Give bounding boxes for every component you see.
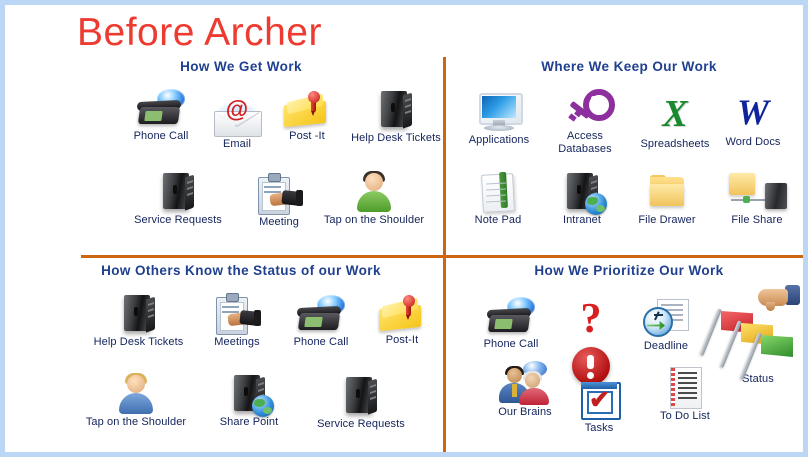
key-icon [563, 87, 607, 129]
server-icon [338, 375, 384, 417]
file-share-icon [727, 171, 787, 213]
item-phone-call[interactable]: Phone Call [463, 297, 559, 351]
item-applications[interactable]: Applications [451, 91, 547, 147]
item-spreadsheets[interactable]: X Spreadsheets [625, 95, 725, 151]
item-post-it[interactable]: Post-It [363, 293, 441, 347]
person-icon [115, 373, 157, 415]
excel-icon: X [652, 95, 698, 137]
item-label: Access Databases [539, 130, 631, 155]
item-help-desk-tickets[interactable]: Help Desk Tickets [341, 89, 451, 145]
postit-icon [376, 293, 428, 333]
word-icon: W [730, 93, 776, 135]
task-checkbox-icon: ✔ [578, 379, 620, 421]
item-question[interactable]: ? [571, 297, 611, 342]
item-tap-on-the-shoulder[interactable]: Tap on the Shoulder [71, 373, 201, 429]
monitor-icon [475, 91, 523, 133]
clipboard-handshake-icon [212, 293, 262, 335]
item-label: Help Desk Tickets [341, 132, 451, 145]
item-tasks[interactable]: ✔ Tasks [571, 379, 627, 435]
item-help-desk-tickets[interactable]: Help Desk Tickets [81, 293, 196, 349]
flags-thumbsdown-icon [716, 285, 800, 385]
item-status[interactable]: Status [711, 285, 805, 386]
item-word-docs[interactable]: W Word Docs [717, 93, 789, 149]
item-label: Tap on the Shoulder [71, 416, 201, 429]
phone-icon [135, 89, 187, 129]
horizontal-divider [81, 255, 808, 258]
server-icon [155, 171, 201, 213]
page-title: Before Archer [77, 11, 322, 55]
item-file-share[interactable]: File Share [711, 171, 803, 227]
item-service-requests[interactable]: Service Requests [123, 171, 233, 227]
question-mark-icon: ? [574, 297, 608, 341]
item-deadline[interactable]: Deadline [623, 297, 709, 353]
phone-icon [295, 295, 347, 335]
item-label: Note Pad [453, 214, 543, 227]
item-note-pad[interactable]: Note Pad [453, 171, 543, 227]
notepad-icon [476, 171, 520, 213]
quadrant-how-we-prioritize-our-work: How We Prioritize Our Work Phone Call ? [449, 263, 808, 455]
item-label: Tasks [571, 422, 627, 435]
item-intranet[interactable]: Intranet [539, 171, 625, 227]
folder-icon [645, 171, 689, 213]
slide-frame: Before Archer How We Get Work Phone Call… [0, 0, 808, 457]
server-globe-icon [559, 171, 605, 213]
item-label: Phone Call [463, 338, 559, 351]
item-access-databases[interactable]: Access Databases [539, 87, 631, 155]
quadrant-heading-get-work: How We Get Work [41, 59, 441, 74]
clipboard-handshake-icon [254, 173, 304, 215]
item-service-requests[interactable]: Service Requests [301, 375, 421, 431]
quadrant-where-we-keep-our-work: Where We Keep Our Work Applications Acce… [449, 59, 808, 251]
item-label: Post-It [363, 334, 441, 347]
item-label: File Share [711, 214, 803, 227]
item-label: Service Requests [301, 418, 421, 431]
quadrant-heading-prioritize: How We Prioritize Our Work [449, 263, 808, 278]
quadrant-heading-status: How Others Know the Status of our Work [41, 263, 441, 278]
item-meetings[interactable]: Meetings [193, 293, 281, 349]
item-label: Word Docs [717, 136, 789, 149]
clock-document-icon [641, 297, 691, 339]
item-label: Applications [451, 134, 547, 147]
item-label: Phone Call [273, 336, 369, 349]
item-label: Share Point [201, 416, 297, 429]
item-label: Deadline [623, 340, 709, 353]
email-icon: @ [211, 97, 263, 137]
server-globe-icon [226, 373, 272, 415]
quadrant-how-others-know-status: How Others Know the Status of our Work H… [41, 263, 441, 455]
item-label: Service Requests [123, 214, 233, 227]
item-phone-call[interactable]: Phone Call [273, 295, 369, 349]
person-icon [353, 171, 395, 213]
server-icon [116, 293, 162, 335]
quadrant-heading-keep-work: Where We Keep Our Work [449, 59, 808, 74]
postit-icon [281, 89, 333, 129]
item-label: Intranet [539, 214, 625, 227]
server-icon [373, 89, 419, 131]
item-tap-on-the-shoulder[interactable]: Tap on the Shoulder [309, 171, 439, 227]
item-label: Spreadsheets [625, 138, 725, 151]
item-label: To Do List [645, 410, 725, 423]
people-thought-icon [497, 361, 553, 405]
item-label: Help Desk Tickets [81, 336, 196, 349]
slide-canvas: Before Archer How We Get Work Phone Call… [5, 5, 803, 452]
item-label: Our Brains [477, 406, 573, 419]
phone-icon [485, 297, 537, 337]
item-file-drawer[interactable]: File Drawer [621, 171, 713, 227]
item-label: File Drawer [621, 214, 713, 227]
todo-list-icon [665, 365, 705, 409]
item-our-brains[interactable]: Our Brains [477, 361, 573, 419]
item-label: Tap on the Shoulder [309, 214, 439, 227]
quadrant-how-we-get-work: How We Get Work Phone Call @ Email Post … [41, 59, 441, 251]
item-share-point[interactable]: Share Point [201, 373, 297, 429]
item-label: Meetings [193, 336, 281, 349]
